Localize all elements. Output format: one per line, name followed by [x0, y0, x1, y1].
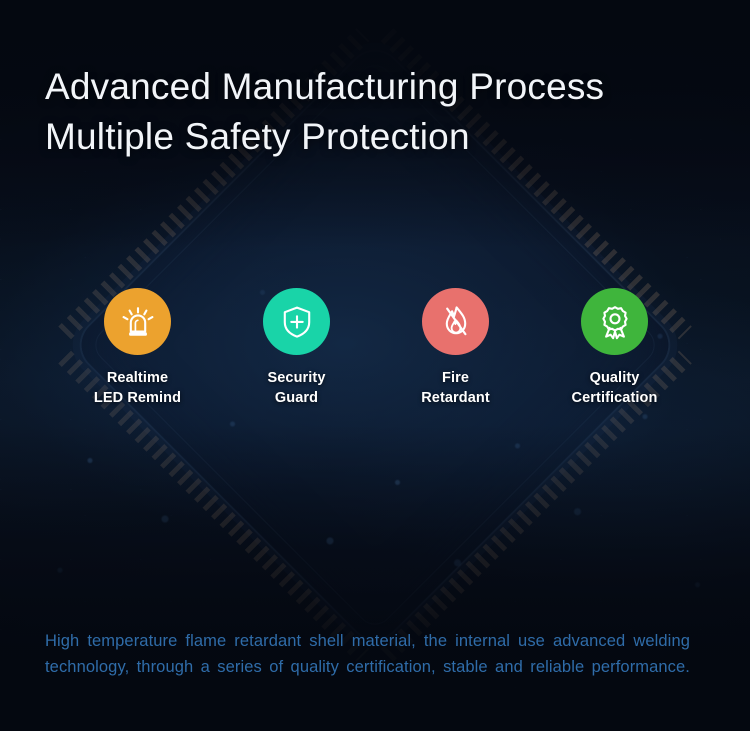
feature-label-3: Fire Retardant [421, 368, 490, 408]
feature-label-2: Security Guard [267, 368, 325, 408]
feature-item-fire-retardant: Fire Retardant [376, 288, 535, 408]
feature-item-security-guard: Security Guard [217, 288, 376, 408]
feature-icon-badge-3 [422, 288, 489, 355]
siren-alarm-icon [118, 302, 158, 342]
feature-icon-badge-4 [581, 288, 648, 355]
banner-content: Advanced Manufacturing Process Multiple … [0, 0, 750, 731]
description-paragraph: High temperature flame retardant shell m… [45, 628, 690, 706]
feature-icon-badge-1 [104, 288, 171, 355]
feature-list: Realtime LED Remind Security Guard [58, 288, 694, 408]
award-ribbon-icon [595, 302, 635, 342]
no-fire-flame-icon [436, 302, 476, 342]
feature-item-quality-certification: Quality Certification [535, 288, 694, 408]
feature-icon-badge-2 [263, 288, 330, 355]
feature-label-4: Quality Certification [572, 368, 658, 408]
product-feature-banner: Advanced Manufacturing Process Multiple … [0, 0, 750, 731]
headline-title: Advanced Manufacturing Process Multiple … [45, 62, 604, 162]
shield-plus-icon [277, 302, 317, 342]
feature-label-1: Realtime LED Remind [94, 368, 181, 408]
feature-item-realtime-led-remind: Realtime LED Remind [58, 288, 217, 408]
